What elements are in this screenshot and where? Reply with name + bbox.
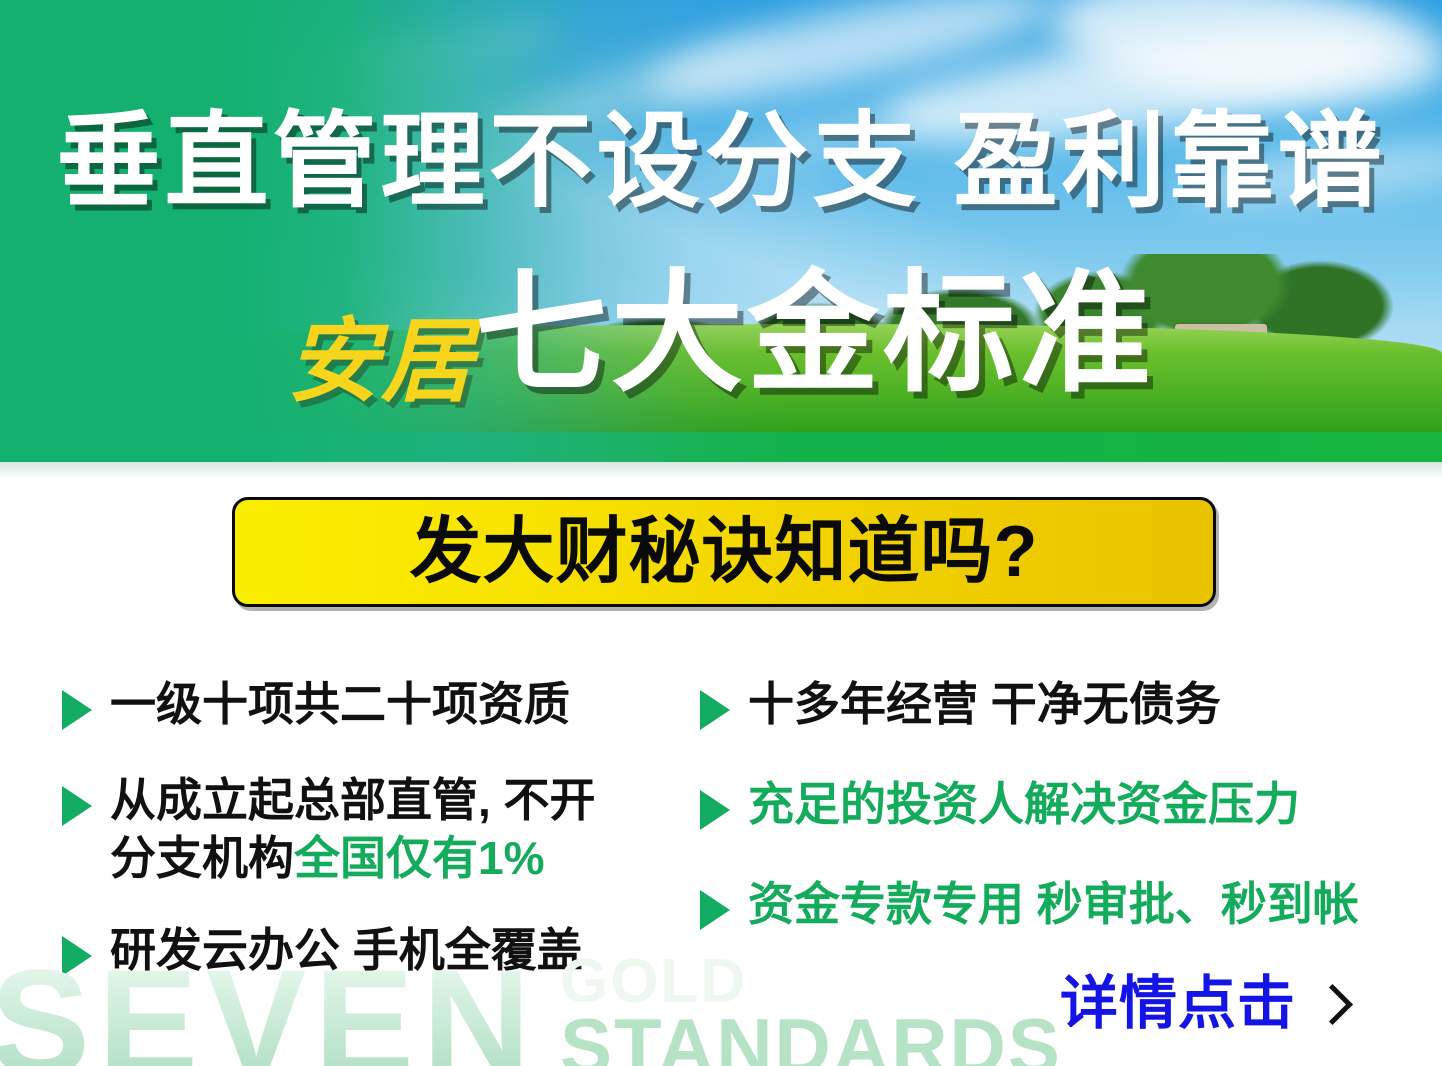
list-item: 资金专款专用 秒审批、秒到帐 bbox=[700, 876, 1359, 934]
feature-text-highlight: 全国仅有1% bbox=[294, 832, 544, 884]
cta-question-bar[interactable]: 发大财秘诀知道吗? bbox=[232, 497, 1216, 607]
detail-link[interactable]: 详情点击 bbox=[1060, 975, 1347, 1033]
hero-headline-primary: 垂直管理不设分支 盈利靠谱 bbox=[0, 110, 1442, 214]
hero-headline-secondary: 安居七大金标准 bbox=[0, 268, 1442, 407]
list-item: 充足的投资人解决资金压力 bbox=[700, 776, 1300, 834]
feature-text: 十多年经营 干净无债务 bbox=[748, 676, 1221, 734]
hero-headline-secondary-main: 七大金标准 bbox=[475, 268, 1155, 400]
chevron-right-icon bbox=[1312, 983, 1353, 1024]
hero-brand-name: 安居 bbox=[287, 315, 475, 407]
feature-text: 从成立起总部直管, 不开 分支机构全国仅有1% bbox=[110, 772, 596, 888]
feature-text: 研发云办公 手机全覆盖 bbox=[110, 922, 583, 980]
feature-text: 资金专款专用 秒审批、秒到帐 bbox=[748, 876, 1359, 934]
list-item: 一级十项共二十项资质 bbox=[62, 676, 570, 734]
triangle-right-icon bbox=[62, 786, 92, 826]
cta-question-label: 发大财秘诀知道吗? bbox=[410, 516, 1039, 588]
watermark-standards: STANDARDS bbox=[560, 1007, 1062, 1066]
list-item: 十多年经营 干净无债务 bbox=[700, 676, 1221, 734]
detail-link-label: 详情点击 bbox=[1060, 975, 1296, 1033]
triangle-right-icon bbox=[62, 936, 92, 976]
triangle-right-icon bbox=[62, 690, 92, 730]
triangle-right-icon bbox=[700, 890, 730, 930]
triangle-right-icon bbox=[700, 790, 730, 830]
feature-columns: 一级十项共二十项资质 从成立起总部直管, 不开 分支机构全国仅有1% 研发云办公… bbox=[0, 664, 1442, 984]
triangle-right-icon bbox=[700, 690, 730, 730]
feature-text: 充足的投资人解决资金压力 bbox=[748, 776, 1300, 834]
list-item: 从成立起总部直管, 不开 分支机构全国仅有1% bbox=[62, 772, 596, 888]
promotional-banner: 垂直管理不设分支 盈利靠谱 安居七大金标准 发大财秘诀知道吗? 一级十项共二十项… bbox=[0, 0, 1442, 1066]
list-item: 研发云办公 手机全覆盖 bbox=[62, 922, 583, 980]
hero-drop-shadow bbox=[0, 462, 1442, 478]
feature-text: 一级十项共二十项资质 bbox=[110, 676, 570, 734]
